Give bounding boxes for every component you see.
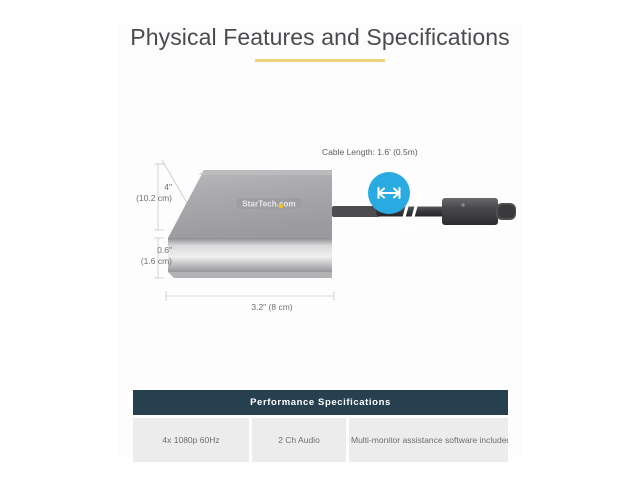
dimension-height-metric: (10.2 cm) bbox=[120, 193, 172, 204]
performance-specifications-table: Performance Specifications 4x 1080p 60Hz… bbox=[133, 390, 508, 462]
dimension-depth-imperial: 0.6" bbox=[120, 245, 172, 256]
brand-logo: StarTech.com bbox=[236, 198, 302, 209]
svg-text:StarTech.com: StarTech.com bbox=[242, 200, 296, 209]
dimension-depth: 0.6" (1.6 cm) bbox=[120, 245, 172, 267]
double-arrow-icon bbox=[368, 172, 410, 214]
spec-table-row: 4x 1080p 60Hz 2 Ch Audio Multi-monitor a… bbox=[133, 418, 508, 462]
cable-length-badge bbox=[368, 172, 410, 214]
title-accent-underline bbox=[255, 59, 385, 62]
dimension-width: 3.2" (8 cm) bbox=[162, 302, 382, 313]
product-spec-page: Physical Features and Specifications bbox=[0, 0, 640, 480]
product-illustration: StarTech.com 4" (10.2 cm) bbox=[118, 120, 522, 330]
spec-cell-resolution: 4x 1080p 60Hz bbox=[133, 418, 249, 462]
cable-length-callout: Cable Length: 1.6' (0.5m) bbox=[322, 147, 482, 158]
page-header: Physical Features and Specifications bbox=[118, 22, 522, 62]
dimension-height-imperial: 4" bbox=[120, 182, 172, 193]
spec-cell-software: Multi-monitor assistance software includ… bbox=[349, 418, 508, 462]
spec-cell-audio: 2 Ch Audio bbox=[252, 418, 346, 462]
dimension-depth-metric: (1.6 cm) bbox=[120, 256, 172, 267]
dimension-height: 4" (10.2 cm) bbox=[120, 182, 172, 204]
usb-c-connector bbox=[442, 198, 516, 225]
spec-table-header: Performance Specifications bbox=[133, 390, 508, 415]
page-title: Physical Features and Specifications bbox=[118, 22, 522, 52]
